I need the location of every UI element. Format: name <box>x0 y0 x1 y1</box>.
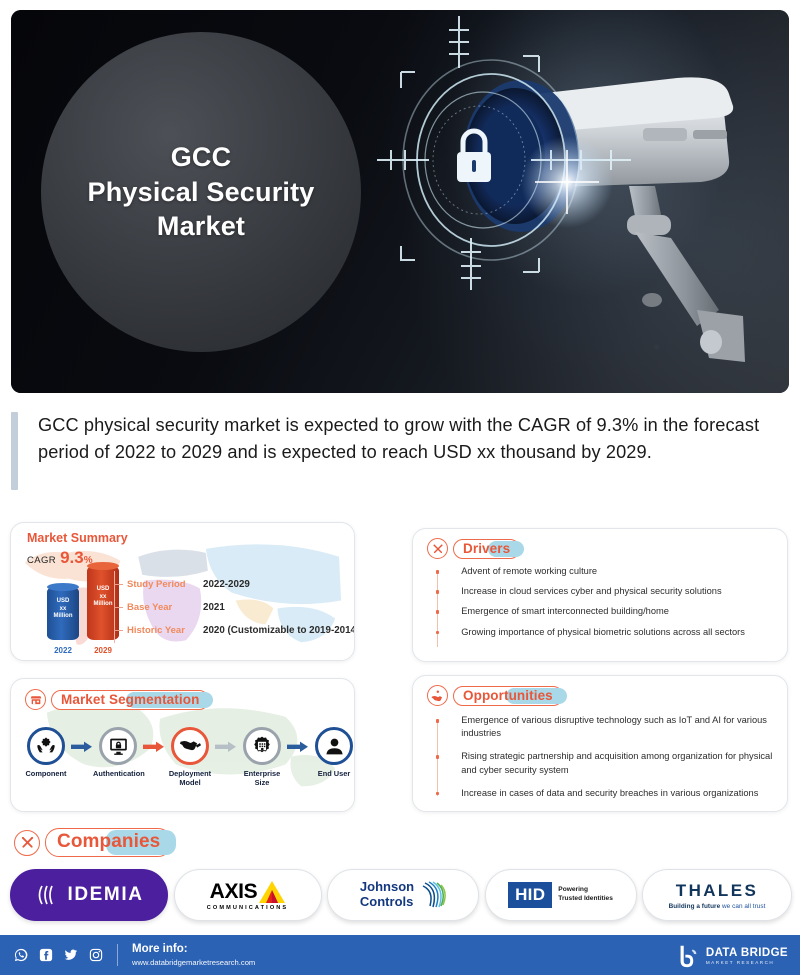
thales-wordmark: THALES <box>669 881 766 901</box>
summary-statement: GCC physical security market is expected… <box>11 412 781 500</box>
row-value: 2021 <box>203 602 225 613</box>
companies-header-label: Companies <box>57 831 160 853</box>
hid-tagline: Powering Trusted Identities <box>558 886 613 903</box>
row-key: Base Year <box>127 602 203 613</box>
list-item: Increase in cloud services cyber and phy… <box>435 585 773 598</box>
hid-tagline-line1: Powering <box>558 886 613 895</box>
opportunities-list: Emergence of various disruptive technolo… <box>435 714 773 807</box>
bullet-dot <box>436 570 440 574</box>
bullet-dot <box>436 590 440 594</box>
hero-title-line1: GCC <box>87 140 314 175</box>
row-dash <box>114 584 123 585</box>
idemia-mark-icon <box>34 883 60 907</box>
opportunity-text: Increase in cases of data and security b… <box>461 787 758 800</box>
security-camera-illustration <box>371 10 789 393</box>
company-logo-row: IDEMIA AXIS COMMUNICATIONS Johnson Contr… <box>10 866 792 924</box>
hid-wordmark: HID <box>508 882 552 908</box>
segmentation-header-label: Market Segmentation <box>61 692 199 707</box>
thales-tagline-a: Building a future <box>669 903 721 910</box>
opportunity-text: Emergence of various disruptive technolo… <box>461 714 773 740</box>
flow-arrow <box>215 740 237 758</box>
thales-tagline-b: we can all trust <box>722 903 765 910</box>
opportunities-panel: Opportunities Emergence of various disru… <box>412 675 788 812</box>
row-value: 2020 (Customizable to 2019-2014) <box>203 625 355 636</box>
segmentation-pill: Market Segmentation <box>51 690 209 710</box>
companies-header: Companies <box>14 828 172 857</box>
hero-banner: GCC Physical Security Market <box>11 10 789 393</box>
segment-node-authentication[interactable]: Authentication <box>93 727 143 778</box>
tools-cross-icon <box>14 830 40 856</box>
opportunities-pill: Opportunities <box>453 686 563 706</box>
hero-title-circle: GCC Physical Security Market <box>41 32 361 352</box>
list-item: Rising strategic partnership and acquisi… <box>435 750 773 776</box>
logo-axis[interactable]: AXIS COMMUNICATIONS <box>174 869 322 921</box>
segment-node-enterprise-size[interactable]: EnterpriseSize <box>237 727 287 788</box>
tools-cross-icon <box>427 538 448 559</box>
twitter-icon[interactable] <box>64 948 78 962</box>
more-info-block: More info: www.databridgemarketresearch.… <box>132 943 255 966</box>
segment-label: EnterpriseSize <box>237 769 287 788</box>
row-dash <box>114 607 123 608</box>
segment-label: Component <box>21 769 71 778</box>
segment-label: Authentication <box>93 769 143 778</box>
driver-text: Growing importance of physical biometric… <box>461 626 745 639</box>
summary-text: GCC physical security market is expected… <box>38 412 781 467</box>
cagr-unit: % <box>84 555 93 566</box>
data-bridge-brand[interactable]: DATA BRIDGE MARKET RESEARCH <box>675 943 788 969</box>
list-item: Emergence of smart interconnected buildi… <box>435 605 773 618</box>
row-key: Historic Year <box>127 625 203 636</box>
market-summary-title: Market Summary <box>27 531 128 545</box>
bullet-dot <box>436 719 440 723</box>
list-item: Advent of remote working culture <box>435 565 773 578</box>
flow-arrow <box>143 740 165 758</box>
social-links <box>14 948 103 962</box>
johnson-line1: Johnson <box>360 880 414 895</box>
component-ring <box>27 727 65 765</box>
thales-tagline: Building a future we can all trust <box>669 903 766 910</box>
market-segmentation-panel: Market Segmentation Component <box>10 678 355 812</box>
bullet-dot <box>436 631 440 635</box>
enterprise-ring <box>243 727 281 765</box>
monitor-lock-icon <box>108 736 129 757</box>
bar-2022-label: USDxxMillion <box>47 598 79 621</box>
list-item: Emergence of various disruptive technolo… <box>435 714 773 740</box>
gear-building-icon <box>251 735 273 757</box>
storefront-icon <box>25 689 46 710</box>
bullet-dot <box>436 792 440 796</box>
brand-tagline: MARKET RESEARCH <box>706 960 788 965</box>
johnson-globe-icon <box>420 880 446 910</box>
handshake-icon <box>179 735 201 757</box>
authentication-ring <box>99 727 137 765</box>
hid-tagline-line2: Trusted Identities <box>558 895 613 904</box>
opportunities-header: Opportunities <box>427 685 563 706</box>
driver-text: Advent of remote working culture <box>461 565 597 578</box>
table-row: Historic Year 2020 (Customizable to 2019… <box>114 619 355 642</box>
row-value: 2022-2029 <box>203 579 250 590</box>
opportunities-header-label: Opportunities <box>463 688 553 703</box>
cagr-value: 9.3 <box>60 548 84 568</box>
facebook-icon[interactable] <box>39 948 53 962</box>
driver-text: Increase in cloud services cyber and phy… <box>461 585 721 598</box>
segment-node-deployment-model[interactable]: DeploymentModel <box>165 727 215 788</box>
hero-title-line3: Market <box>87 209 314 244</box>
segment-label: DeploymentModel <box>165 769 215 788</box>
brand-text: DATA BRIDGE MARKET RESEARCH <box>706 947 788 965</box>
flow-arrow <box>287 740 309 758</box>
drivers-panel: Drivers Advent of remote working culture… <box>412 528 788 662</box>
market-bar-chart: USDxxMillion USDxxMillion 2022 2029 <box>43 569 125 657</box>
axis-subtext: COMMUNICATIONS <box>207 905 289 911</box>
row-dash <box>114 630 123 631</box>
johnson-line2: Controls <box>360 895 414 910</box>
list-item: Increase in cases of data and security b… <box>435 787 773 800</box>
segment-label: End User <box>309 769 355 778</box>
user-icon <box>324 736 345 757</box>
accent-bar <box>11 412 18 490</box>
idemia-wordmark: IDEMIA <box>67 884 143 906</box>
table-row: Base Year 2021 <box>114 596 355 619</box>
axis-wordmark: AXIS <box>210 880 258 904</box>
companies-pill: Companies <box>45 828 172 857</box>
hero-title-line2: Physical Security <box>87 175 314 210</box>
deployment-ring <box>171 727 209 765</box>
bullet-dot <box>436 755 440 759</box>
website-url[interactable]: www.databridgemarketresearch.com <box>132 958 255 967</box>
axis-triangle-icon <box>259 881 285 903</box>
drivers-list: Advent of remote working culture Increas… <box>435 565 773 646</box>
segmentation-header: Market Segmentation <box>25 689 209 710</box>
logo-thales[interactable]: THALES Building a future we can all trus… <box>642 869 792 921</box>
bar-cap <box>47 583 79 591</box>
cagr-label: CAGR <box>27 555 56 566</box>
hands-puzzle-icon <box>35 735 57 757</box>
driver-text: Emergence of smart interconnected buildi… <box>461 605 669 618</box>
flow-arrow <box>71 740 93 758</box>
hand-coin-icon <box>427 685 448 706</box>
market-summary-rows: Study Period 2022-2029 Base Year 2021 Hi… <box>114 573 355 642</box>
page-title: GCC Physical Security Market <box>77 140 324 244</box>
drivers-header-label: Drivers <box>463 541 510 556</box>
table-row: Study Period 2022-2029 <box>114 573 355 596</box>
drivers-header: Drivers <box>427 538 520 559</box>
segment-node-end-user[interactable]: End User <box>309 727 355 778</box>
whatsapp-icon[interactable] <box>14 948 28 962</box>
brand-name: DATA BRIDGE <box>706 947 788 960</box>
end-user-ring <box>315 727 353 765</box>
more-info-label: More info: <box>132 943 255 956</box>
drivers-pill: Drivers <box>453 539 520 559</box>
cagr-readout: CAGR 9.3 % <box>27 548 93 568</box>
segmentation-flow: Component Authentication <box>21 727 346 805</box>
list-item: Growing importance of physical biometric… <box>435 626 773 639</box>
opportunity-text: Rising strategic partnership and acquisi… <box>461 750 773 776</box>
row-key: Study Period <box>127 579 203 590</box>
instagram-icon[interactable] <box>89 948 103 962</box>
footer-bar: More info: www.databridgemarketresearch.… <box>0 935 800 975</box>
logo-hid[interactable]: HID Powering Trusted Identities <box>485 869 637 921</box>
logo-idemia[interactable]: IDEMIA <box>10 869 168 921</box>
footer-divider <box>117 944 118 966</box>
bullet-dot <box>436 610 440 614</box>
bar-2022-year: 2022 <box>47 646 79 655</box>
segment-node-component[interactable]: Component <box>21 727 71 778</box>
data-bridge-logo-icon <box>675 943 701 969</box>
logo-johnson-controls[interactable]: Johnson Controls <box>327 869 479 921</box>
market-summary-panel: Market Summary CAGR 9.3 % USDxxMillion U… <box>10 522 355 661</box>
bar-2022: USDxxMillion <box>47 587 79 640</box>
bar-2029-year: 2029 <box>87 646 119 655</box>
